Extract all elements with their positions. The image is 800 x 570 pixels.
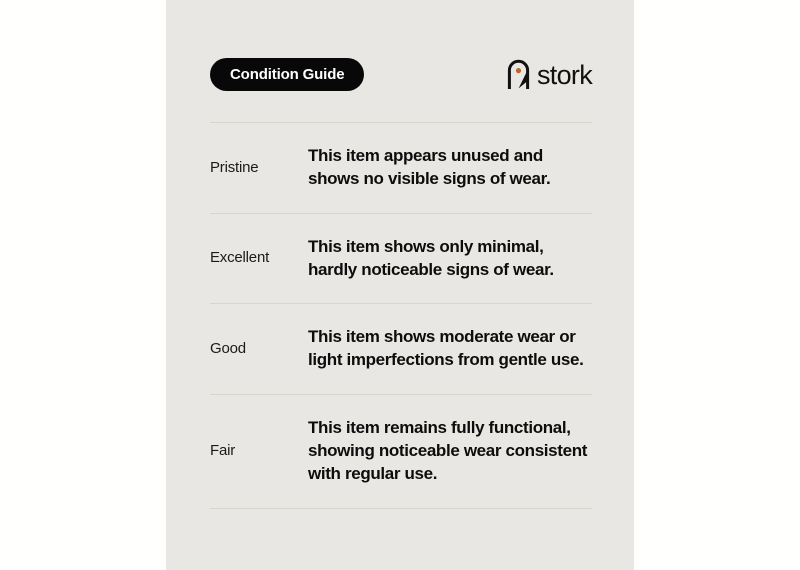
condition-guide-table: Pristine This item appears unused and sh…: [210, 122, 592, 509]
brand-accent-dot: [516, 68, 521, 73]
brand-logo[interactable]: stork: [507, 59, 592, 89]
screenshot-stage: Condition Guide stork Pristine This item…: [0, 0, 800, 570]
table-row: Good This item shows moderate wear or li…: [210, 304, 592, 394]
condition-label: Excellent: [210, 248, 308, 268]
table-row: Excellent This item shows only minimal, …: [210, 214, 592, 304]
condition-description: This item shows moderate wear or light i…: [308, 325, 592, 372]
card-header: Condition Guide stork: [210, 55, 592, 93]
condition-label: Good: [210, 339, 308, 359]
condition-description: This item remains fully functional, show…: [308, 416, 592, 486]
table-row: Fair This item remains fully functional,…: [210, 395, 592, 508]
condition-description: This item shows only minimal, hardly not…: [308, 235, 592, 282]
condition-guide-pill[interactable]: Condition Guide: [210, 58, 364, 91]
divider-bottom: [210, 508, 592, 509]
condition-guide-card: Condition Guide stork Pristine This item…: [166, 0, 634, 570]
condition-description: This item appears unused and shows no vi…: [308, 144, 592, 191]
condition-label: Fair: [210, 441, 308, 461]
stork-arch-icon: [507, 59, 530, 89]
brand-wordmark: stork: [537, 62, 592, 89]
table-row: Pristine This item appears unused and sh…: [210, 123, 592, 213]
condition-label: Pristine: [210, 158, 308, 178]
